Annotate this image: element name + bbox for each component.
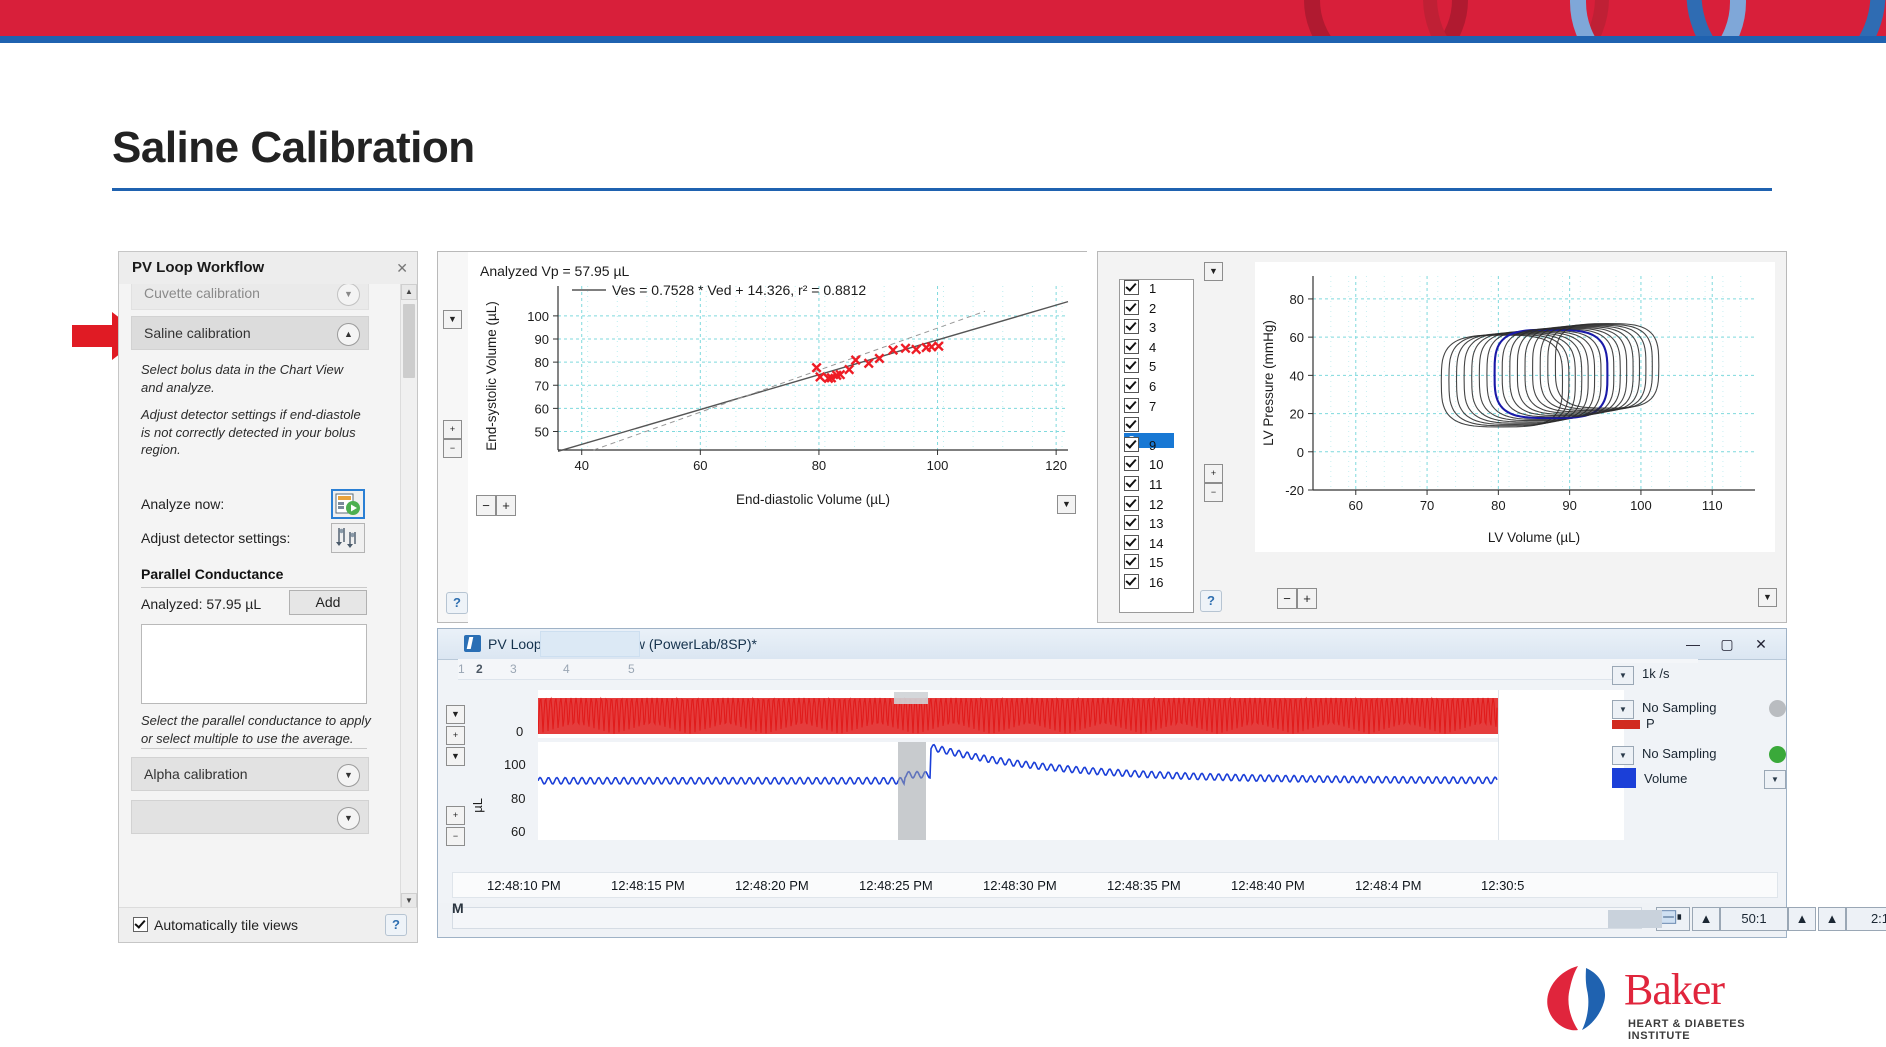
close-button[interactable]: ✕: [1746, 633, 1776, 655]
pressure-tick-0: 0: [516, 724, 523, 739]
slide-top-band: [0, 0, 1886, 36]
redacted-title-field: [540, 631, 640, 657]
beat-list-item[interactable]: 4: [1120, 339, 1193, 359]
beat-list-item[interactable]: 2: [1120, 300, 1193, 320]
svg-text:50: 50: [535, 425, 549, 440]
sidebar-scrollbar[interactable]: ▲ ▼: [400, 284, 417, 909]
svg-text:LV Pressure (mmHg): LV Pressure (mmHg): [1261, 320, 1276, 446]
checkbox-box[interactable]: [1124, 437, 1139, 452]
channel-name: P: [1646, 716, 1655, 731]
beat-number: 15: [1145, 555, 1167, 570]
svg-text:100: 100: [927, 458, 949, 473]
marker-handle-icon[interactable]: M: [452, 900, 464, 916]
svg-text:100: 100: [1630, 498, 1652, 513]
beat-list-item[interactable]: 11: [1120, 476, 1193, 496]
volume-tick-60: 60: [511, 824, 525, 839]
svg-text:70: 70: [1420, 498, 1434, 513]
panel-footer: Automatically tile views: [119, 907, 417, 942]
sidebar-section-next[interactable]: ▼: [131, 800, 369, 834]
detector-settings-glyph: [332, 524, 362, 550]
hint-adjust-detector: Adjust detector settings if end-diastole…: [141, 406, 365, 459]
checkbox-box[interactable]: [1124, 300, 1139, 315]
logo-tagline: HEART & DIABETES INSTITUTE: [1628, 1018, 1782, 1042]
channel-color-swatch: [1612, 768, 1636, 788]
help-icon[interactable]: [1200, 590, 1222, 612]
minimize-button[interactable]: —: [1678, 633, 1708, 655]
x-axis-dropdown-icon[interactable]: ▼: [1057, 495, 1076, 514]
beat-list-item[interactable]: 5: [1120, 358, 1193, 378]
checkbox-box[interactable]: [1124, 339, 1139, 354]
pressure-channel-zoom-in[interactable]: +: [446, 726, 465, 745]
beat-number: 9: [1145, 438, 1160, 453]
checkbox-label: Automatically tile views: [154, 917, 298, 933]
pv-x-axis-dropdown-icon[interactable]: ▼: [1758, 588, 1777, 607]
checkbox-box[interactable]: [1124, 378, 1139, 393]
section-divider: [141, 587, 367, 588]
channel-row-pressure[interactable]: ▼ No Sampling P: [1612, 698, 1788, 724]
svg-text:110: 110: [1702, 498, 1723, 513]
beat-list-item[interactable]: 16: [1120, 574, 1193, 594]
svg-text:LV Volume (µL): LV Volume (µL): [1488, 530, 1580, 545]
beat-number: 11: [1145, 477, 1167, 492]
beat-number: 1: [1145, 281, 1160, 296]
time-label: 12:48:35 PM: [1107, 878, 1181, 893]
checkbox-box[interactable]: [1124, 280, 1139, 295]
title-underline: [112, 188, 1772, 191]
baker-logo-mark: [1542, 962, 1620, 1034]
analyze-now-label: Analyze now:: [141, 496, 224, 512]
volume-tick-80: 80: [511, 791, 525, 806]
beat-number: 2: [1145, 301, 1160, 316]
close-icon[interactable]: ✕: [396, 260, 408, 277]
channel-traces: [538, 690, 1498, 840]
beat-number: 3: [1145, 320, 1160, 335]
compression-h-up-icon[interactable]: ▲: [1692, 907, 1720, 931]
channel-sampling-label: No Sampling: [1642, 700, 1716, 715]
svg-text:0: 0: [1297, 445, 1304, 460]
beat-list-item[interactable]: 12: [1120, 496, 1193, 516]
y-axis-zoom-in-button[interactable]: +: [443, 420, 462, 439]
beat-list-item[interactable]: 14: [1120, 535, 1193, 555]
scroll-up-icon[interactable]: ▲: [401, 284, 417, 300]
beat-number: 4: [1145, 340, 1160, 355]
checkbox-box[interactable]: [1124, 417, 1139, 432]
ruler-mark: 5: [628, 662, 635, 676]
y-axis-dropdown-icon[interactable]: ▼: [443, 310, 462, 329]
beat-number: 12: [1145, 497, 1167, 512]
hint-select-bolus: Select bolus data in the Chart View and …: [141, 361, 365, 396]
beat-list-item[interactable]: 6: [1120, 378, 1193, 398]
parallel-conductance-heading: Parallel Conductance: [141, 566, 283, 582]
pv-y-axis-zoom-out-button[interactable]: −: [1204, 483, 1223, 502]
time-label: 12:48:40 PM: [1231, 878, 1305, 893]
panel-header: PV Loop Workflow ✕: [119, 252, 417, 285]
chevron-down-icon[interactable]: ▼: [1612, 746, 1634, 765]
svg-text:60: 60: [1290, 330, 1304, 345]
beat-selection-list[interactable]: 12345678910111213141516: [1119, 279, 1194, 613]
analyzed-value: Analyzed: 57.95 µL: [141, 596, 261, 612]
checkbox-box[interactable]: [1124, 456, 1139, 471]
baker-logo: Baker HEART & DIABETES INSTITUTE: [1542, 962, 1782, 1038]
pressure-channel-dropdown-icon[interactable]: ▼: [446, 705, 465, 724]
maximize-button[interactable]: ▢: [1712, 633, 1742, 655]
ruler-mark: 2: [476, 662, 483, 676]
beat-number: 6: [1145, 379, 1160, 394]
regression-plot-area: 4060801001205060708090100Analyzed Vp = 5…: [468, 252, 1088, 624]
analyze-now-icon[interactable]: [331, 489, 365, 519]
band-decoration: [1266, 0, 1886, 36]
pv-loop-workflow-panel: PV Loop Workflow ✕ Cuvette calibration ▼…: [118, 251, 418, 943]
chevron-down-icon[interactable]: ▼: [337, 764, 360, 787]
beat-number: 10: [1145, 457, 1167, 472]
chevron-down-icon[interactable]: ▼: [1764, 770, 1786, 789]
channel-color-swatch: [1612, 720, 1640, 729]
beat-number: 7: [1145, 399, 1160, 414]
checkbox-box[interactable]: [1124, 476, 1139, 491]
add-button[interactable]: Add: [289, 590, 367, 615]
svg-text:40: 40: [574, 458, 588, 473]
checkbox-box[interactable]: [1124, 398, 1139, 413]
chevron-up-icon[interactable]: ▲: [337, 323, 360, 346]
beat-list-item[interactable]: 1: [1120, 280, 1193, 300]
app-icon: [464, 635, 481, 652]
checkbox-box[interactable]: [1124, 319, 1139, 334]
analyze-now-glyph: [333, 491, 363, 517]
beat-list-item[interactable]: 8: [1120, 417, 1193, 437]
sidebar-section-cuvette-calibration[interactable]: Cuvette calibration ▼: [131, 284, 369, 310]
checkbox-box[interactable]: [1124, 574, 1139, 589]
ruler-mark: 3: [510, 662, 517, 676]
sidebar-section-alpha-calibration[interactable]: Alpha calibration ▼: [131, 757, 369, 791]
pv-y-axis-zoom-in-button[interactable]: +: [1204, 464, 1223, 483]
svg-text:90: 90: [535, 332, 549, 347]
section-label: Alpha calibration: [144, 766, 248, 782]
sampling-rate-value: 1k /s: [1642, 666, 1669, 681]
scrollbar-thumb[interactable]: [1608, 910, 1662, 928]
pv-x-axis-zoom-in-button[interactable]: +: [1297, 588, 1317, 609]
channel-sampling-label: No Sampling: [1642, 746, 1716, 761]
checkbox-box[interactable]: [1124, 535, 1139, 550]
compression-h-value[interactable]: 50:1: [1720, 907, 1788, 931]
sidebar-section-saline-calibration[interactable]: Saline calibration ▲: [131, 316, 369, 350]
analysis-window: 4060801001205060708090100Analyzed Vp = 5…: [437, 251, 1087, 623]
volume-channel-dropdown-icon[interactable]: ▼: [446, 747, 465, 766]
svg-text:Analyzed Vp = 57.95 µL: Analyzed Vp = 57.95 µL: [480, 263, 630, 279]
chart-view-titlebar[interactable]: PV Loop #23: Chart View (PowerLab/8SP)* …: [438, 629, 1786, 660]
title-accent-rule: [0, 36, 1886, 43]
volume-tick-100: 100: [504, 757, 526, 772]
svg-text:70: 70: [535, 378, 549, 393]
help-icon[interactable]: [446, 592, 468, 614]
checkbox-box[interactable]: [1124, 554, 1139, 569]
beat-list-item[interactable]: 13: [1120, 515, 1193, 535]
section-label: Saline calibration: [144, 325, 251, 341]
info-icon-green[interactable]: [1769, 746, 1786, 763]
channel-row-volume[interactable]: ▼ No Sampling Volume ▼: [1612, 744, 1788, 770]
time-label: 12:48:30 PM: [983, 878, 1057, 893]
ruler-mark: 1: [458, 662, 465, 676]
svg-text:60: 60: [693, 458, 707, 473]
info-icon-grey[interactable]: [1769, 700, 1786, 717]
compression-v-up-icon[interactable]: ▲: [1818, 907, 1846, 931]
time-label: 12:48:25 PM: [859, 878, 933, 893]
x-axis-zoom-in-button[interactable]: +: [496, 495, 516, 516]
time-axis: 12:48:10 PM 12:48:15 PM 12:48:20 PM 12:4…: [452, 872, 1778, 898]
volume-channel-zoom-out[interactable]: −: [446, 827, 465, 846]
time-label: 12:48:10 PM: [487, 878, 561, 893]
panel-title: PV Loop Workflow: [132, 259, 264, 276]
beat-list-item[interactable]: 3: [1120, 319, 1193, 339]
channel-name: Volume: [1644, 771, 1687, 786]
y-axis-zoom-out-button[interactable]: −: [443, 439, 462, 458]
checkbox-box[interactable]: [1124, 515, 1139, 530]
regression-chart: 4060801001205060708090100Analyzed Vp = 5…: [468, 252, 1088, 624]
chevron-down-icon[interactable]: ▼: [337, 807, 360, 830]
chevron-down-icon[interactable]: ▼: [1612, 700, 1634, 719]
x-axis-zoom-out-button[interactable]: −: [476, 495, 496, 516]
svg-text:80: 80: [1290, 292, 1304, 307]
svg-text:40: 40: [1290, 368, 1304, 383]
detector-settings-icon[interactable]: [331, 523, 365, 553]
beat-number: 5: [1145, 359, 1160, 374]
chevron-down-icon[interactable]: ▼: [337, 284, 360, 306]
beat-list-item[interactable]: 7: [1120, 398, 1193, 418]
svg-text:60: 60: [535, 401, 549, 416]
time-label: 12:30:5: [1481, 878, 1524, 893]
beat-list-item[interactable]: 10: [1120, 456, 1193, 476]
marker-glyph: [1659, 908, 1687, 926]
time-label: 12:48:4 PM: [1355, 878, 1422, 893]
pv-loop-chart: 60708090100110-20020406080LV Volume (µL)…: [1255, 262, 1775, 552]
checkbox-box[interactable]: [1124, 496, 1139, 511]
panel-body: Cuvette calibration ▼ Saline calibration…: [119, 284, 401, 909]
sampling-rate-control[interactable]: ▼ 1k /s: [1612, 663, 1780, 689]
volume-unit-label: µL: [470, 798, 485, 813]
beat-list-item[interactable]: 15: [1120, 554, 1193, 574]
svg-text:20: 20: [1290, 407, 1304, 422]
ruler-mark: 4: [563, 662, 570, 676]
logo-wordmark: Baker: [1624, 964, 1724, 1015]
volume-channel-zoom-in[interactable]: +: [446, 806, 465, 825]
pv-loop-plot-area: 60708090100110-20020406080LV Volume (µL)…: [1255, 262, 1775, 552]
checkbox-box[interactable]: [1124, 358, 1139, 373]
page-title: Saline Calibration: [112, 123, 475, 173]
adjust-detector-label: Adjust detector settings:: [141, 530, 290, 546]
svg-text:100: 100: [527, 309, 549, 324]
svg-text:-20: -20: [1285, 483, 1304, 498]
time-label: 12:48:15 PM: [611, 878, 685, 893]
svg-text:120: 120: [1045, 458, 1067, 473]
bolus-selection-region: [898, 742, 926, 840]
channel-blank-region: [1498, 690, 1624, 840]
chevron-down-icon[interactable]: ▼: [1612, 666, 1634, 685]
compression-h-down-icon[interactable]: ▲: [1788, 907, 1816, 931]
svg-text:60: 60: [1349, 498, 1363, 513]
svg-text:Ves = 0.7528 * Ved + 14.326, r: Ves = 0.7528 * Ved + 14.326, r² = 0.8812: [612, 282, 866, 298]
pv-y-axis-dropdown-icon[interactable]: ▼: [1204, 262, 1223, 281]
section-label: Cuvette calibration: [144, 285, 260, 301]
svg-text:End-diastolic Volume (µL): End-diastolic Volume (µL): [736, 492, 890, 507]
horizontal-scrollbar[interactable]: [452, 907, 1642, 929]
svg-text:90: 90: [1562, 498, 1576, 513]
svg-text:80: 80: [1491, 498, 1505, 513]
pv-x-axis-zoom-out-button[interactable]: −: [1277, 588, 1297, 609]
beat-number: 13: [1145, 516, 1167, 531]
chart-ruler: 1 2 3 4 5: [458, 659, 1698, 680]
scrollbar-thumb[interactable]: [403, 304, 415, 378]
help-icon[interactable]: [385, 914, 407, 936]
section-divider: [141, 748, 367, 749]
automatically-tile-views-checkbox[interactable]: Automatically tile views: [133, 917, 298, 933]
svg-text:80: 80: [812, 458, 826, 473]
compression-v-value[interactable]: 2:1: [1846, 907, 1886, 931]
parallel-conductance-note: Select the parallel conductance to apply…: [141, 712, 371, 747]
beat-number: 14: [1145, 536, 1167, 551]
checkbox-box[interactable]: [133, 917, 148, 932]
time-label: 12:48:20 PM: [735, 878, 809, 893]
beat-list-item[interactable]: 9: [1120, 437, 1193, 457]
svg-text:80: 80: [535, 355, 549, 370]
beat-number: 16: [1145, 575, 1167, 590]
svg-text:End-systolic Volume (µL): End-systolic Volume (µL): [484, 301, 499, 451]
parallel-conductance-list[interactable]: [141, 624, 367, 704]
